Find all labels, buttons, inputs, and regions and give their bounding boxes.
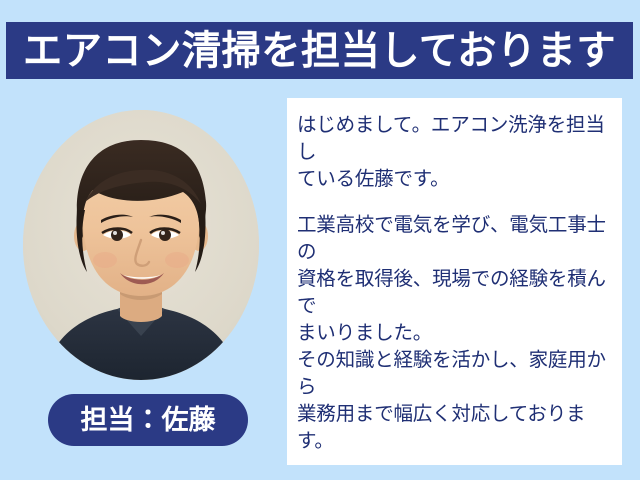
intro-paragraph-1: はじめまして。エアコン洗浄を担当し ている佐藤です。	[297, 112, 614, 193]
intro-text-panel: はじめまして。エアコン洗浄を担当し ている佐藤です。 工業高校で電気を学び、電気…	[287, 98, 622, 465]
paragraph-spacer	[297, 193, 614, 212]
intro-paragraph-2: 工業高校で電気を学び、電気工事士の 資格を取得後、現場での経験を積んで まいりま…	[297, 212, 614, 455]
paragraph-spacer	[297, 455, 614, 465]
staff-intro-card: エアコン清掃を担当しております	[0, 0, 640, 480]
photo-column: 担当：佐藤	[14, 96, 270, 464]
page-title: エアコン清掃を担当しております	[23, 31, 616, 71]
staff-name-badge: 担当：佐藤	[48, 394, 248, 446]
portrait-illustration	[23, 110, 259, 380]
staff-name-badge-label: 担当：佐藤	[81, 407, 216, 434]
header-banner: エアコン清掃を担当しております	[6, 22, 633, 79]
staff-photo	[23, 110, 259, 380]
